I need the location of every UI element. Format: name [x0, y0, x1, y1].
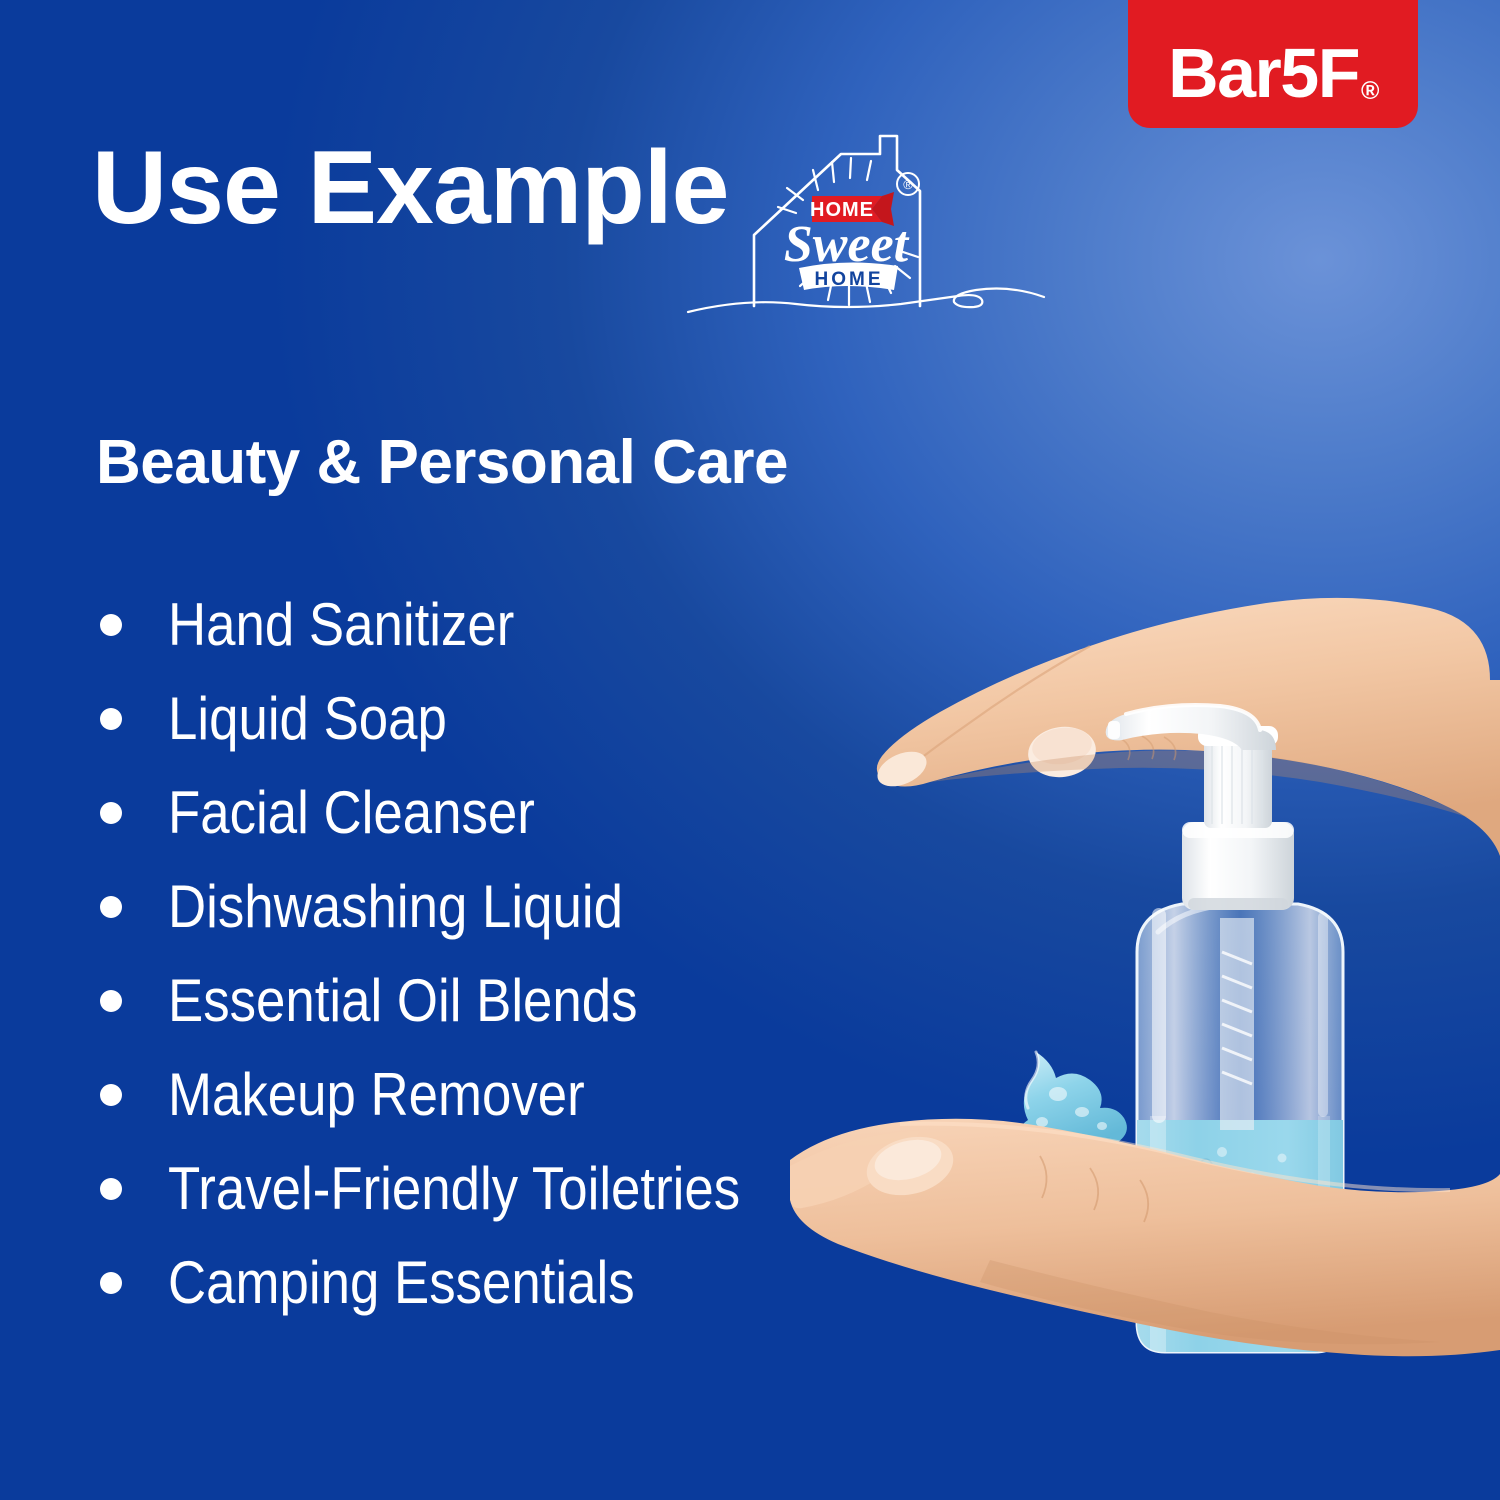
svg-text:HOME: HOME	[815, 269, 884, 290]
page-title: Use Example	[92, 136, 728, 240]
brand-name: Bar5F®	[1168, 38, 1378, 108]
home-banner: HOME	[799, 262, 898, 290]
svg-text:®: ®	[903, 177, 913, 192]
feature-label: Dishwashing Liquid	[168, 877, 623, 937]
feature-label: Essential Oil Blends	[168, 971, 638, 1031]
lower-hand	[790, 1119, 1500, 1356]
feature-label: Travel-Friendly Toiletries	[168, 1159, 740, 1219]
bullet-icon	[100, 990, 122, 1012]
feature-label: Makeup Remover	[168, 1065, 585, 1125]
feature-label: Camping Essentials	[168, 1253, 635, 1313]
section-title: Beauty & Personal Care	[96, 432, 788, 494]
bullet-icon	[100, 802, 122, 824]
brand-badge: Bar5F®	[1128, 0, 1418, 128]
home-sweet-home-logo: ® HOME Sweet HOME	[686, 118, 1046, 333]
bullet-icon	[100, 1178, 122, 1200]
bullet-icon	[100, 708, 122, 730]
bullet-icon	[100, 896, 122, 918]
product-photo	[790, 560, 1500, 1420]
marketing-banner: Bar5F® Use Example ®	[0, 0, 1500, 1500]
brand-name-text: Bar5F	[1168, 38, 1359, 108]
feature-label: Hand Sanitizer	[168, 595, 514, 655]
registered-trademark-icon: ®	[1361, 79, 1378, 104]
bullet-icon	[100, 1084, 122, 1106]
ground-line-icon	[688, 289, 1044, 312]
bullet-icon	[100, 1272, 122, 1294]
logo-registered-mark-icon: ®	[897, 173, 919, 195]
bullet-icon	[100, 614, 122, 636]
feature-label: Facial Cleanser	[168, 783, 535, 843]
feature-label: Liquid Soap	[168, 689, 447, 749]
